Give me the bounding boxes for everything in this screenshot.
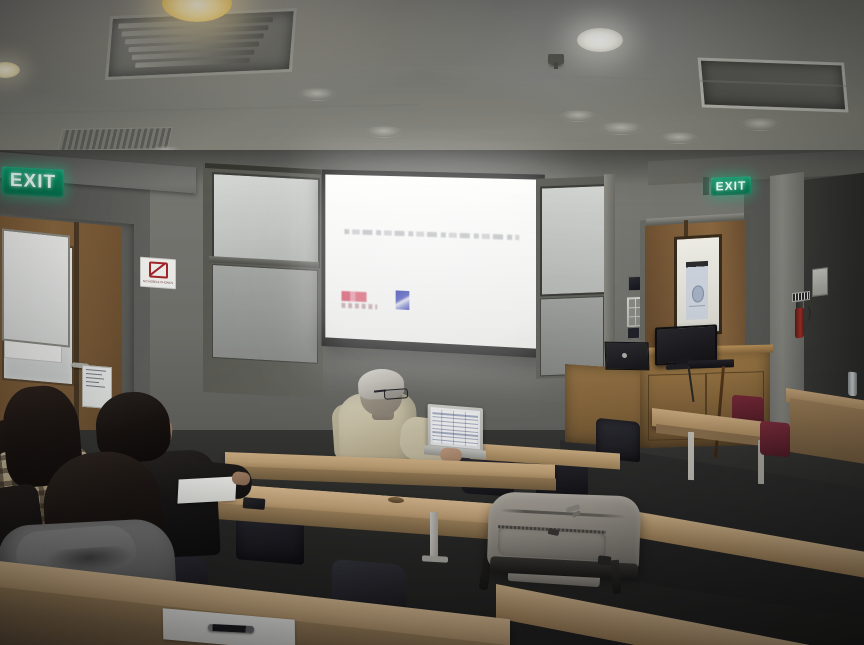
slide-logo-left-caption	[342, 303, 378, 310]
tier2-desk-foot	[422, 555, 448, 562]
student-papers[interactable]	[177, 476, 236, 503]
sprinkler-head-icon	[548, 54, 564, 64]
wall-panel-right	[812, 267, 828, 297]
no-mobile-phone-icon: NO MOBILE PHONES	[140, 257, 176, 290]
presenter-glasses-icon	[384, 388, 409, 400]
ceiling-downlight-bright	[577, 28, 623, 52]
lecture-hall-photo: EXIT EXIT NO MOBILE PHONES	[0, 0, 864, 645]
ceiling-downlight-off-1	[298, 88, 336, 101]
no-phone-caption: NO MOBILE PHONES	[143, 279, 173, 285]
side-table-leg	[688, 432, 694, 480]
wall-outlet-plate[interactable]	[627, 327, 640, 339]
ceiling-downlight-off-6	[366, 126, 402, 138]
exit-sign-left: EXIT	[2, 166, 64, 197]
door-right-window	[674, 234, 722, 337]
tier2-desk-leg	[430, 512, 438, 560]
fire-extinguisher-icon	[795, 307, 804, 338]
slide-headline-text	[344, 229, 520, 240]
whiteboard-left	[2, 228, 70, 347]
ceiling-downlight-off-4	[660, 132, 698, 144]
exit-sign-right-mount	[703, 177, 709, 195]
exit-sign-right: EXIT	[711, 176, 751, 195]
wall-pilaster-left	[196, 160, 206, 397]
slide-logo-right	[395, 290, 409, 310]
door-right-poster	[686, 260, 708, 320]
smartphone-on-desk[interactable]	[243, 497, 266, 510]
laptop-logo-icon	[622, 353, 627, 358]
side-chair[interactable]	[760, 421, 790, 458]
podium-laptop[interactable]	[605, 342, 650, 371]
rear-right-desk-riser	[790, 398, 864, 464]
sliding-whiteboard-upper[interactable]	[212, 172, 320, 268]
ceiling-downlight-off-2	[560, 110, 596, 122]
whiteboard-right-upper[interactable]	[540, 184, 606, 297]
projection-screen[interactable]	[325, 174, 539, 348]
water-bottle[interactable]	[848, 372, 857, 397]
ceiling-downlight-off-3	[600, 122, 642, 135]
podium-keyboard[interactable]	[688, 359, 734, 369]
poster-text-line	[689, 305, 705, 307]
sliding-whiteboard-lower[interactable]	[212, 264, 318, 364]
presenter-laptop-screen[interactable]	[431, 407, 480, 449]
backpack-clip[interactable]	[598, 555, 612, 565]
slide-logo-left	[342, 291, 367, 302]
ceiling-downlight-off-5	[740, 118, 780, 131]
student-black-hand	[231, 471, 251, 486]
poster-seal-icon	[692, 285, 704, 303]
